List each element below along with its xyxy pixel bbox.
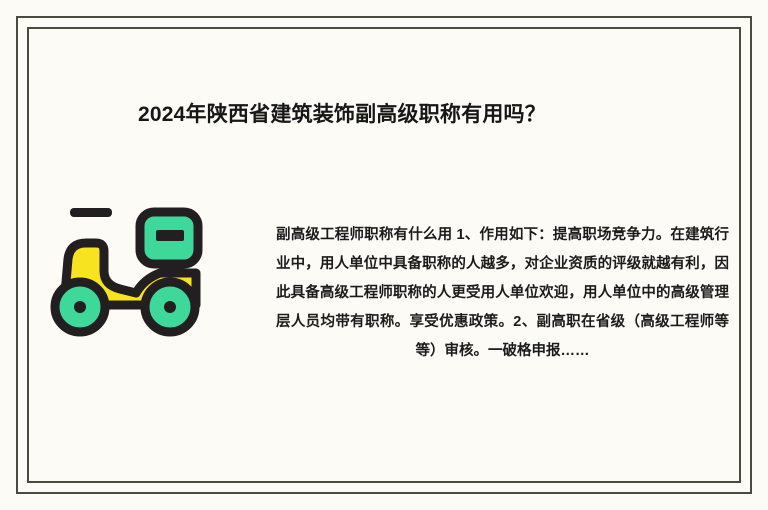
scooter-handlebar-icon bbox=[70, 208, 112, 217]
scooter-rear-wheel-icon bbox=[145, 282, 195, 332]
scooter-delivery-box-icon bbox=[140, 212, 198, 264]
scooter-illustration bbox=[44, 197, 210, 337]
page-title: 2024年陕西省建筑装饰副高级职称有用吗？ bbox=[138, 98, 546, 128]
page-root: 2024年陕西省建筑装饰副高级职称有用吗？ bbox=[0, 0, 768, 510]
scooter-front-wheel-icon bbox=[55, 282, 105, 332]
article-body-text: 副高级工程师职称有什么用 1、作用如下：提高职场竞争力。在建筑行业中，用人单位中… bbox=[276, 221, 729, 366]
